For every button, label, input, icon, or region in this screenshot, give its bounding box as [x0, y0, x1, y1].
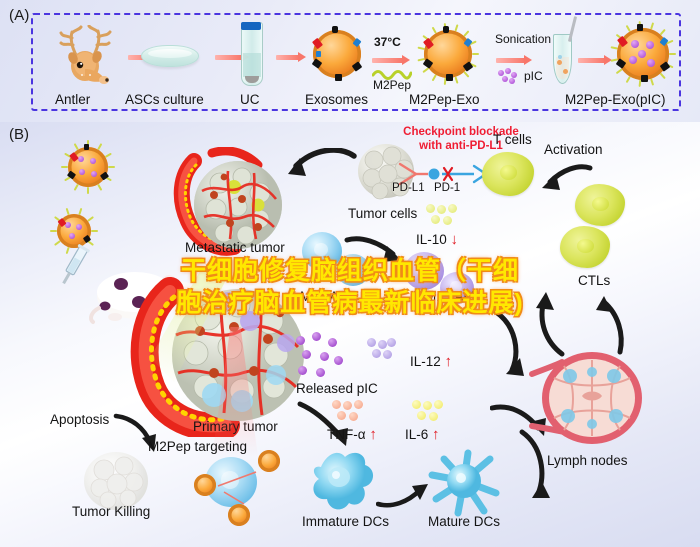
exosome-peptide-icon: [424, 30, 472, 78]
exosome-particle-1: [68, 147, 108, 187]
panel-b-title: (B): [9, 126, 29, 143]
peptide-spikes: [424, 30, 472, 78]
tnf-alpha-arrow: ↑: [369, 426, 377, 443]
process-arrow-5: [496, 55, 532, 65]
arrow-mature-dc-to-lymph: [498, 422, 550, 500]
label-immature-dcs: Immature DCs: [302, 515, 389, 530]
il-6-arrow: ↑: [432, 426, 440, 443]
cytokine-il-6: IL-6 ↑: [405, 427, 440, 444]
t-cell-main: [482, 152, 534, 196]
label-activation: Activation: [544, 143, 603, 158]
panel-a-step-label-uc: UC: [240, 93, 260, 108]
panel-a-step-label-ascs: ASCs culture: [125, 93, 204, 108]
il-12-cytokine-dots: [365, 338, 397, 364]
arrow-lymph-to-ctl-left: [524, 292, 568, 360]
label-mature-dcs: Mature DCs: [428, 515, 500, 530]
targeting-exosome-3: [228, 504, 250, 526]
ctl-cell-2: [560, 226, 610, 268]
immature-dc-icon: [305, 447, 379, 515]
mature-dc-icon: [424, 447, 504, 519]
panel-a-title: (A): [9, 7, 30, 24]
process-arrow-6: [578, 55, 612, 65]
tnf-alpha-cytokine-dots: [330, 400, 364, 426]
label-apoptosis: Apoptosis: [50, 413, 109, 428]
label-metastatic-tumor: Metastatic tumor: [185, 241, 285, 256]
label-lymph-nodes: Lymph nodes: [547, 454, 628, 469]
il-12-name: IL-12: [410, 354, 441, 369]
tnf-alpha-name: TNF-α: [327, 427, 366, 442]
label-pd-l1: PD-L1: [392, 182, 425, 195]
ctl-cell-1: [575, 184, 625, 226]
panel-a-step-label-m2pep-exo: M2Pep-Exo: [409, 93, 480, 108]
panel-b: Metastatic tumor Tumor cells Checkpoint …: [0, 122, 700, 547]
exosome-icon: [313, 30, 361, 78]
figure-canvas: Antler ASCs culture UC Exosomes: [0, 0, 700, 547]
pic-annotation: pIC: [524, 70, 543, 83]
centrifuge-tube-icon: [241, 22, 263, 86]
temperature-annotation: 37°C: [374, 36, 401, 49]
label-tumor-killing: Tumor Killing: [72, 505, 150, 520]
il-12-arrow: ↑: [445, 353, 453, 370]
cytokine-tnf-alpha: TNF-α ↑: [327, 427, 377, 444]
label-tumor-cells: Tumor cells: [348, 207, 417, 222]
exosome-loaded-icon: [617, 28, 669, 80]
m1-tam-cell-1: [404, 252, 444, 290]
apoptotic-cell-icon: [84, 452, 148, 510]
exosome-particle-2: [57, 214, 91, 248]
process-arrow-3: [276, 52, 306, 62]
petri-dish-icon: [141, 45, 199, 67]
cytokine-il-12: IL-12 ↑: [410, 354, 452, 371]
checkpoint-line2: with anti-PD-L1: [419, 140, 503, 152]
arrow-tumor-to-metastatic: [278, 148, 358, 196]
il-10-cytokine-dots: [424, 204, 458, 230]
pic-cluster-icon: [498, 68, 520, 82]
il-6-name: IL-6: [405, 427, 428, 442]
targeting-exosome-2: [194, 474, 216, 496]
sonication-annotation: Sonication: [495, 33, 551, 46]
process-arrow-4: [372, 55, 410, 65]
panel-a-step-label-exosomes: Exosomes: [305, 93, 368, 108]
label-m1-tams: M1 TAMs: [425, 290, 482, 305]
label-primary-tumor: Primary tumor: [193, 420, 278, 435]
m2-tam-cell-2: [336, 254, 370, 286]
cytokine-il-10: IL-10 ↓: [416, 232, 458, 249]
arrow-il12-to-ctl: [466, 304, 524, 376]
label-ctls: CTLs: [578, 274, 610, 289]
panel-a-step-label-m2pep-exo-pic: M2Pep-Exo(pIC): [565, 93, 666, 108]
panel-a: Antler ASCs culture UC Exosomes: [0, 0, 700, 122]
arrow-lymph-to-ctl-right: [586, 296, 630, 358]
label-pd-1: PD-1: [434, 182, 460, 195]
panel-a-step-label-antler: Antler: [55, 93, 90, 108]
il-10-name: IL-10: [416, 232, 447, 247]
released-pic-dots: [296, 332, 346, 378]
label-t-cells: T cells: [493, 133, 532, 148]
il-10-arrow: ↓: [451, 231, 459, 248]
m2pep-annotation: M2Pep: [373, 79, 411, 92]
targeting-link-lines: [214, 470, 264, 506]
il-6-cytokine-dots: [410, 400, 444, 426]
label-m2pep-targeting: M2Pep targeting: [148, 440, 247, 455]
deer-icon: [52, 25, 124, 85]
targeting-exosome-1: [258, 450, 280, 472]
label-released-pic: Released pIC: [296, 382, 378, 397]
